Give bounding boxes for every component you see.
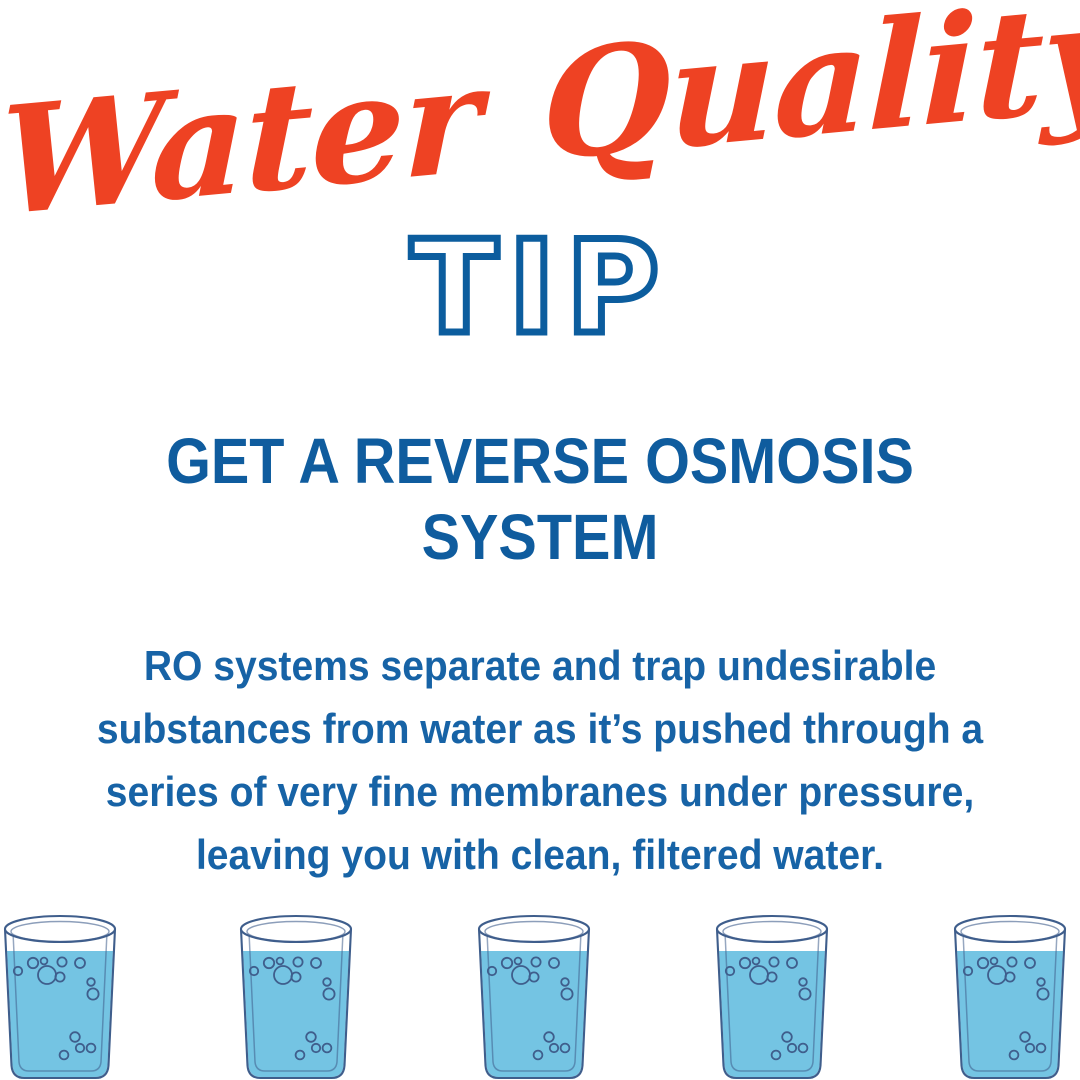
headline-line-1: GET A REVERSE OSMOSIS	[90, 424, 990, 500]
poster-canvas: Water Quality TIP GET A REVERSE OSMOSIS …	[0, 0, 1080, 1080]
glass-of-water	[228, 905, 364, 1080]
glass-illustration-svg	[228, 905, 364, 1080]
tip-outline-text: TIP	[411, 214, 670, 363]
glass-illustration-svg	[942, 905, 1078, 1080]
script-title-word-water: Water	[0, 44, 480, 236]
glass-illustration-svg	[0, 905, 128, 1080]
glass-illustration-svg	[466, 905, 602, 1080]
tip-outline-svg: TIP	[340, 214, 740, 364]
glass-of-water	[466, 905, 602, 1080]
glass-of-water	[0, 905, 128, 1080]
script-title-word-quality: Quality	[541, 0, 1080, 181]
body-line-3: series of very fine membranes under pres…	[70, 760, 1009, 823]
water-glasses-row	[0, 900, 1080, 1080]
body-line-1: RO systems separate and trap undesirable	[70, 634, 1009, 697]
body-line-2: substances from water as it’s pushed thr…	[70, 697, 1009, 760]
glass-of-water	[704, 905, 840, 1080]
body-line-4: leaving you with clean, filtered water.	[70, 823, 1009, 886]
headline-line-2: SYSTEM	[90, 500, 990, 576]
body-paragraph: RO systems separate and trap undesirable…	[70, 634, 1009, 886]
tip-wordmark: TIP	[0, 214, 1080, 364]
script-title: Water Quality	[0, 5, 1080, 232]
glass-illustration-svg	[704, 905, 840, 1080]
glass-of-water	[942, 905, 1078, 1080]
page-title: GET A REVERSE OSMOSIS SYSTEM	[90, 424, 990, 575]
